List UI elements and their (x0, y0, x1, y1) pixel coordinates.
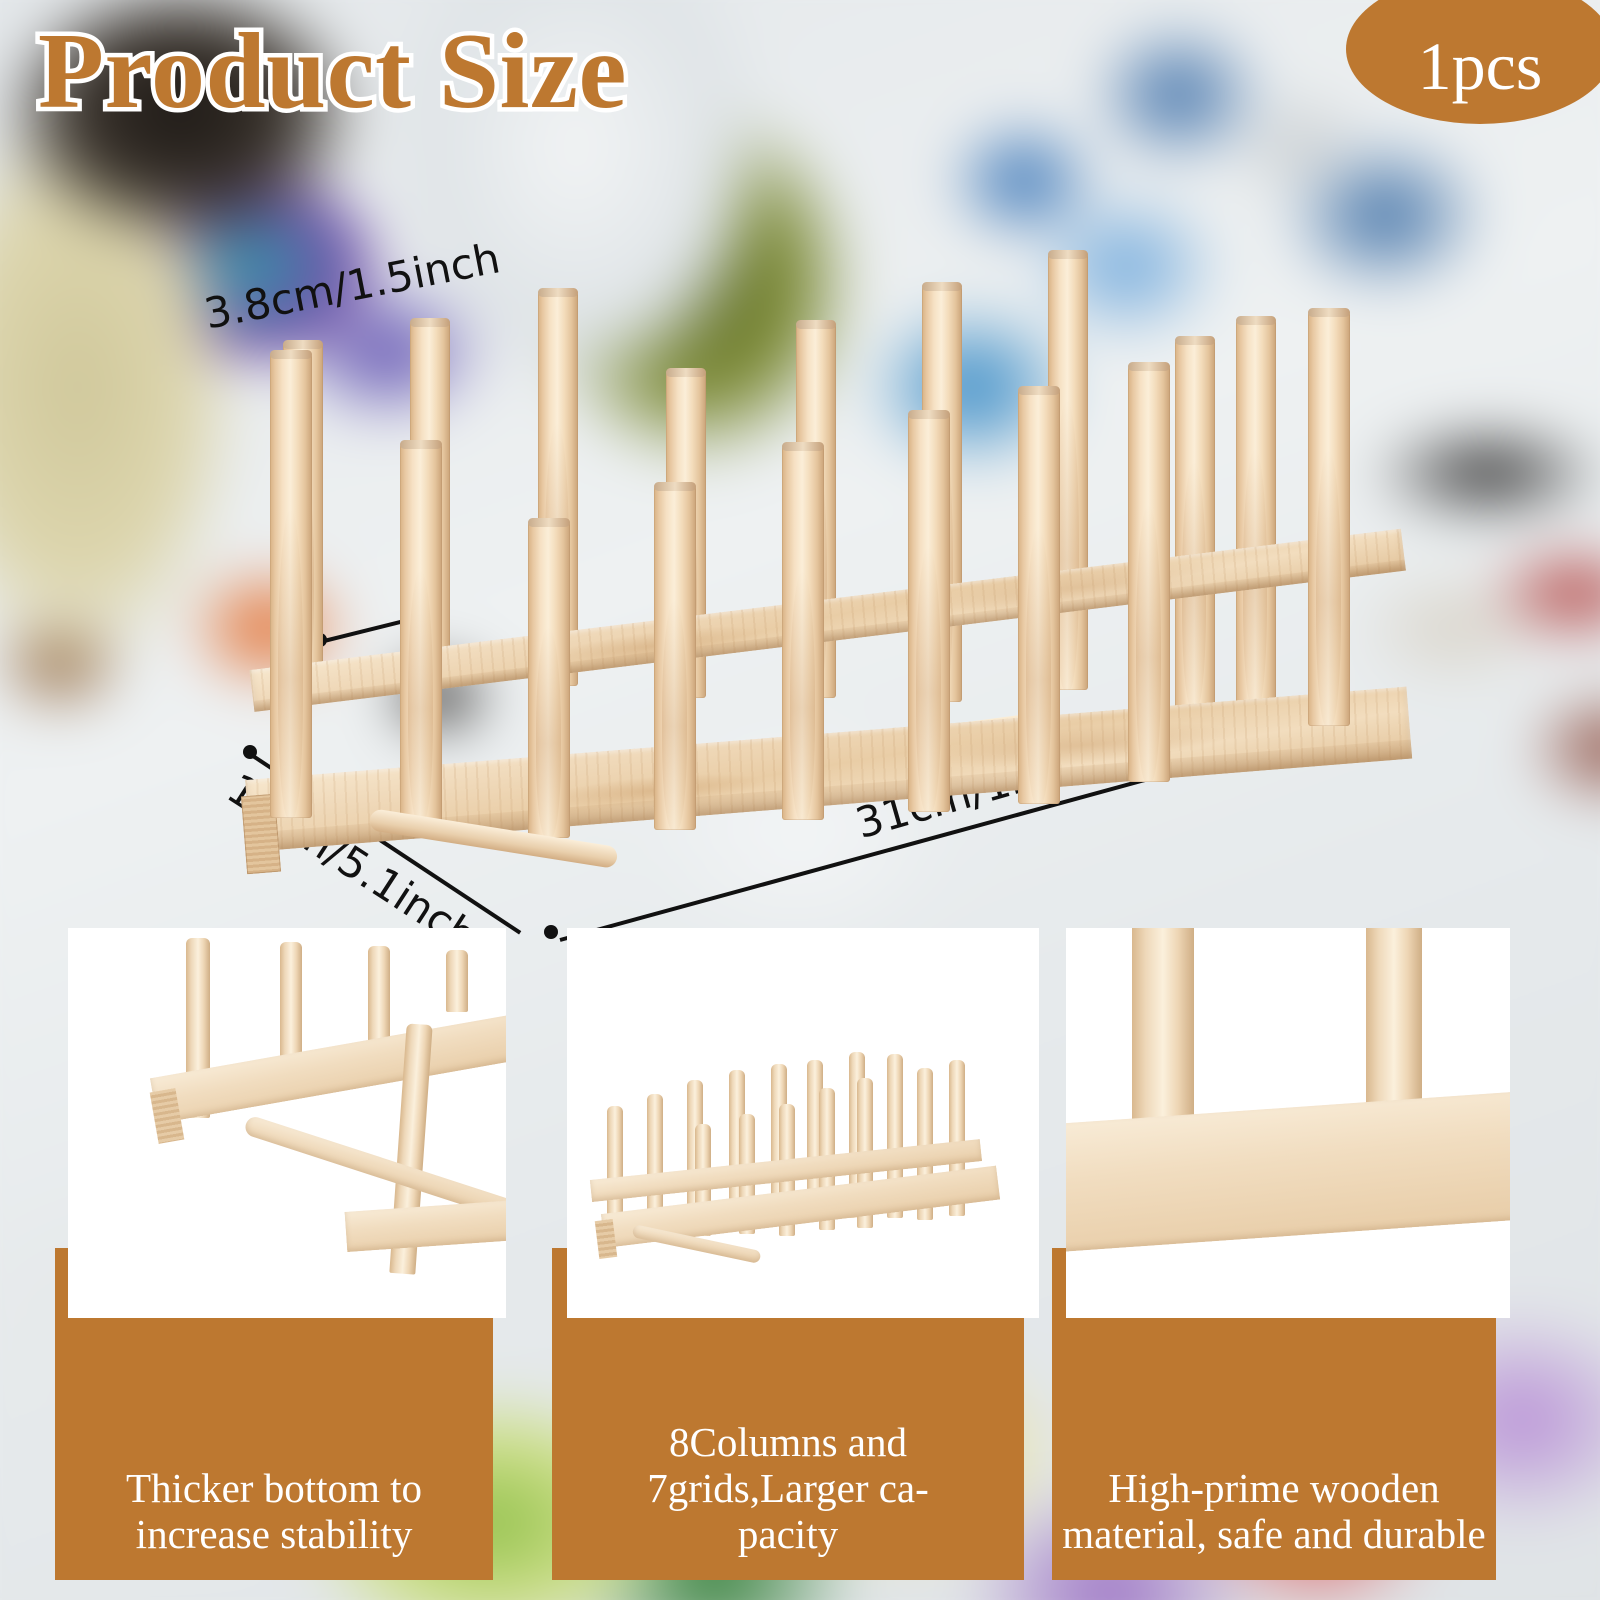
rack-dowel (647, 1094, 663, 1216)
rack-dowel (368, 946, 390, 1042)
feature-caption-text: High-prime wooden material, safe and dur… (1062, 1466, 1486, 1558)
feature-photo (68, 928, 506, 1318)
rack-dowel (1018, 386, 1060, 804)
rack-dowel (782, 442, 824, 820)
rack-dowel (1308, 308, 1350, 726)
feature-photo (567, 928, 1039, 1318)
rack-dowel (400, 440, 442, 822)
feature-photo (1066, 928, 1510, 1318)
rack-dowel (528, 518, 570, 838)
rack-dowel (1128, 362, 1170, 782)
rack-dowel (1175, 336, 1215, 708)
rack-dowel (908, 410, 950, 812)
rack-back-rail (345, 1198, 506, 1252)
rack-dowel (1236, 316, 1276, 708)
feature-caption-text: Thicker bottom to increase stability (65, 1466, 483, 1558)
rack-dowel (446, 950, 468, 1012)
rack-dowel (280, 942, 302, 1070)
rack-dowel (270, 350, 312, 818)
rack-dowel (654, 482, 696, 830)
feature-caption-text: 8Columns and 7grids,Larger ca- pacity (562, 1420, 1014, 1558)
infographic-canvas: 3.8cm/1.5inch13cm/5.1inch31cm/12.2inch P… (0, 0, 1600, 1600)
